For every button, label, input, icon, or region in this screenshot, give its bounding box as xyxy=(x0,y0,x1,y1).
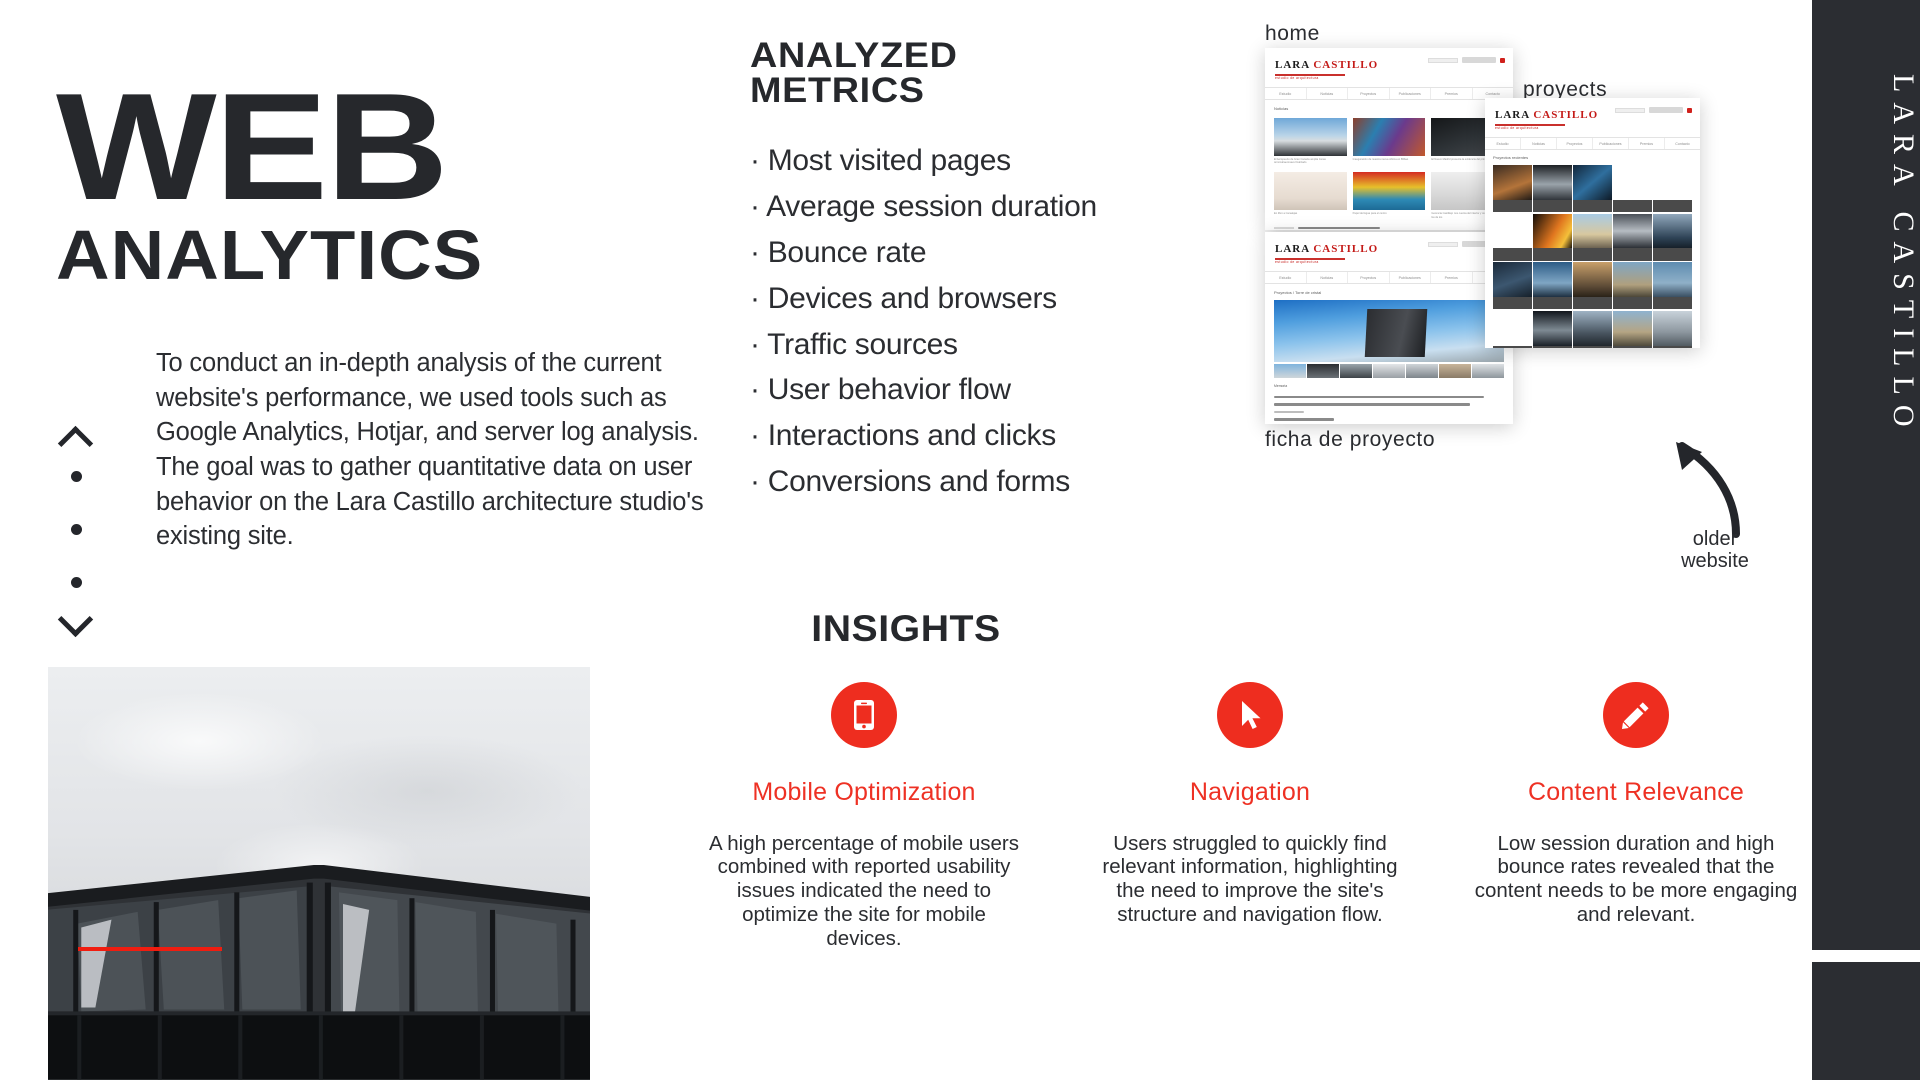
mockup-nav-item[interactable]: Premios xyxy=(1431,272,1473,283)
insights-cards: Mobile Optimization A high percentage of… xyxy=(680,682,1820,951)
list-item: · Average session duration xyxy=(750,184,1180,230)
metrics-title-line1: ANALYZED xyxy=(750,38,1214,73)
red-accent-line xyxy=(78,947,222,951)
list-item[interactable] xyxy=(1613,214,1652,261)
mockup-project-grid xyxy=(1493,165,1692,348)
photo-building xyxy=(48,865,590,1080)
metrics-list: · Most visited pages · Average session d… xyxy=(750,138,1180,505)
mockup-nav-item[interactable]: Publicaciones xyxy=(1390,88,1432,99)
list-item[interactable] xyxy=(1573,165,1612,212)
list-item: · Devices and browsers xyxy=(750,276,1180,322)
mockup-news-list xyxy=(1274,227,1504,230)
list-item[interactable] xyxy=(1493,214,1532,261)
list-item: · User behavior flow xyxy=(750,367,1180,413)
list-item[interactable] xyxy=(1573,214,1612,261)
mockup-home-window[interactable]: LARA CASTILLO estudio de arquitectura Es… xyxy=(1265,48,1513,230)
insight-card-title: Navigation xyxy=(1066,778,1434,808)
list-item[interactable]: Inauguración de nuestra nueva oficina en… xyxy=(1353,116,1426,165)
pencil-icon xyxy=(1603,682,1669,748)
mockup-brand-logo: LARA CASTILLO xyxy=(1275,243,1378,255)
mockup-nav-item[interactable]: Noticias xyxy=(1521,138,1557,149)
mockup-detail-heading: Memoria xyxy=(1274,384,1504,388)
mockup-nav[interactable]: Estudio Noticias Proyectos Publicaciones… xyxy=(1265,271,1513,284)
mockup-proyects-window[interactable]: LARA CASTILLO estudio de arquitectura Es… xyxy=(1485,98,1700,348)
smartphone-icon xyxy=(831,682,897,748)
architecture-photo xyxy=(48,667,590,1080)
list-item[interactable] xyxy=(1493,165,1532,212)
mockup-label-home: home xyxy=(1265,22,1320,46)
intro-paragraph-2: The goal was to gather quantitative data… xyxy=(156,450,716,554)
mockup-ficha-window[interactable]: LARA CASTILLO estudio de arquitectura Es… xyxy=(1265,232,1513,424)
list-item[interactable] xyxy=(1613,262,1652,309)
mockup-header-controls[interactable] xyxy=(1615,107,1692,113)
title-sub: ANALYTICS xyxy=(56,222,483,289)
mockup-nav-item[interactable]: Publicaciones xyxy=(1593,138,1629,149)
mockup-nav-item[interactable]: Estudio xyxy=(1265,88,1307,99)
brand-vertical-label: LARA CASTILLO xyxy=(1812,74,1920,574)
list-item: · Bounce rate xyxy=(750,230,1180,276)
list-item[interactable]: El Aeropuerto de Gran Canaria amplía zon… xyxy=(1274,116,1347,165)
intro-paragraph-1: To conduct an in-depth analysis of the c… xyxy=(156,346,716,450)
list-item[interactable] xyxy=(1573,262,1612,309)
insight-card-content-relevance: Content Relevance Low session duration a… xyxy=(1452,682,1820,951)
list-item[interactable] xyxy=(1533,262,1572,309)
mockup-search-input[interactable] xyxy=(1615,108,1645,113)
dot-icon xyxy=(71,471,82,482)
mockup-section-title: Proyectos recientes xyxy=(1493,155,1692,160)
insight-card-body: A high percentage of mobile users combin… xyxy=(680,832,1048,952)
intro-text: To conduct an in-depth analysis of the c… xyxy=(156,346,716,554)
list-item[interactable] xyxy=(1493,311,1532,348)
insight-card-body: Users struggled to quickly find relevant… xyxy=(1066,832,1434,928)
list-item: · Interactions and clicks xyxy=(750,413,1180,459)
mockup-hero-image xyxy=(1274,300,1504,362)
mockup-nav-item[interactable]: Proyectos xyxy=(1557,138,1593,149)
mockup-lang-pill[interactable] xyxy=(1649,107,1683,113)
mockup-thumb-strip[interactable] xyxy=(1274,364,1504,378)
mockup-search-input[interactable] xyxy=(1428,58,1458,63)
list-item[interactable] xyxy=(1613,165,1652,212)
mockup-nav-item[interactable]: Publicaciones xyxy=(1390,272,1432,283)
mockup-nav-item[interactable]: Noticias xyxy=(1307,272,1349,283)
metrics-title: ANALYZED METRICS xyxy=(750,38,1214,108)
list-item: · Most visited pages xyxy=(750,138,1180,184)
slide-root: WEB ANALYTICS To conduct an in-depth ana… xyxy=(0,0,1920,1080)
list-item[interactable] xyxy=(1653,214,1692,261)
mockup-header-controls[interactable] xyxy=(1428,57,1505,63)
list-item: · Traffic sources xyxy=(750,322,1180,368)
list-item[interactable] xyxy=(1533,165,1572,212)
mockup-news-grid: El Aeropuerto de Gran Canaria amplía zon… xyxy=(1274,116,1504,219)
mockup-section-title: Proyectos / Torre de cristal xyxy=(1274,290,1504,295)
mockup-lang-pill[interactable] xyxy=(1462,57,1496,63)
mockup-nav-item[interactable]: Contacto xyxy=(1665,138,1700,149)
insight-card-mobile-optimization: Mobile Optimization A high percentage of… xyxy=(680,682,1048,951)
mockup-search-input[interactable] xyxy=(1428,242,1458,247)
mockup-nav-item[interactable]: Premios xyxy=(1431,88,1473,99)
mockup-brand-tagline: estudio de arquitectura xyxy=(1275,76,1503,80)
list-item[interactable] xyxy=(1613,311,1652,348)
mockup-brand-tagline: estudio de arquitectura xyxy=(1495,126,1690,130)
list-item[interactable] xyxy=(1653,311,1692,348)
mockup-nav-item[interactable]: Noticias xyxy=(1307,88,1349,99)
mockup-nav-item[interactable]: Estudio xyxy=(1265,272,1307,283)
mockup-brand-logo: LARA CASTILLO xyxy=(1275,59,1378,71)
list-item: · Conversions and forms xyxy=(750,459,1180,505)
mockup-red-square-icon xyxy=(1687,108,1692,113)
list-item[interactable] xyxy=(1493,262,1532,309)
mockup-nav-item[interactable]: Estudio xyxy=(1485,138,1521,149)
list-item[interactable] xyxy=(1653,262,1692,309)
list-item[interactable]: En libro a Canalejas xyxy=(1274,171,1347,220)
mockup-label-ficha: ficha de proyecto xyxy=(1265,428,1435,452)
insights-title: INSIGHTS xyxy=(0,608,1866,650)
right-dark-panel-lower xyxy=(1812,962,1920,1080)
decorative-bullet-column xyxy=(55,428,97,631)
mockup-brand-tagline: estudio de arquitectura xyxy=(1275,260,1503,264)
list-item[interactable] xyxy=(1533,214,1572,261)
chevron-up-icon xyxy=(59,428,93,450)
mockup-nav-item[interactable]: Proyectos xyxy=(1348,272,1390,283)
mockup-nav[interactable]: Estudio Noticias Proyectos Publicaciones… xyxy=(1265,87,1513,100)
mockup-nav[interactable]: Estudio Noticias Proyectos Publicaciones… xyxy=(1485,137,1700,150)
right-panel-divider xyxy=(1812,950,1920,962)
list-item[interactable]: Papel del Agua para el centro xyxy=(1353,171,1426,220)
dot-icon xyxy=(71,577,82,588)
older-website-line2: website xyxy=(1655,550,1775,572)
analyzed-metrics-section: ANALYZED METRICS · Most visited pages · … xyxy=(750,38,1180,505)
mockup-red-square-icon xyxy=(1500,58,1505,63)
list-item[interactable] xyxy=(1533,311,1572,348)
dot-icon xyxy=(71,524,82,535)
insight-card-title: Content Relevance xyxy=(1452,778,1820,808)
website-mockups-group: home proyects ficha de proyecto LARA CAS… xyxy=(1240,10,1860,590)
title-main: WEB xyxy=(56,85,508,210)
insight-card-title: Mobile Optimization xyxy=(680,778,1048,808)
mockup-section-title: Noticias xyxy=(1274,106,1504,111)
list-item[interactable] xyxy=(1653,165,1692,212)
metrics-title-line2: METRICS xyxy=(750,73,1214,108)
cursor-icon xyxy=(1217,682,1283,748)
mockup-nav-item[interactable]: Premios xyxy=(1629,138,1665,149)
older-website-line1: older xyxy=(1655,528,1775,550)
insight-card-body: Low session duration and high bounce rat… xyxy=(1452,832,1820,928)
list-item[interactable] xyxy=(1573,311,1612,348)
insight-card-navigation: Navigation Users struggled to quickly fi… xyxy=(1066,682,1434,951)
mockup-nav-item[interactable]: Proyectos xyxy=(1348,88,1390,99)
mockup-brand-logo: LARA CASTILLO xyxy=(1495,109,1598,121)
page-title: WEB ANALYTICS xyxy=(56,85,459,288)
older-website-label: older website xyxy=(1655,528,1775,572)
